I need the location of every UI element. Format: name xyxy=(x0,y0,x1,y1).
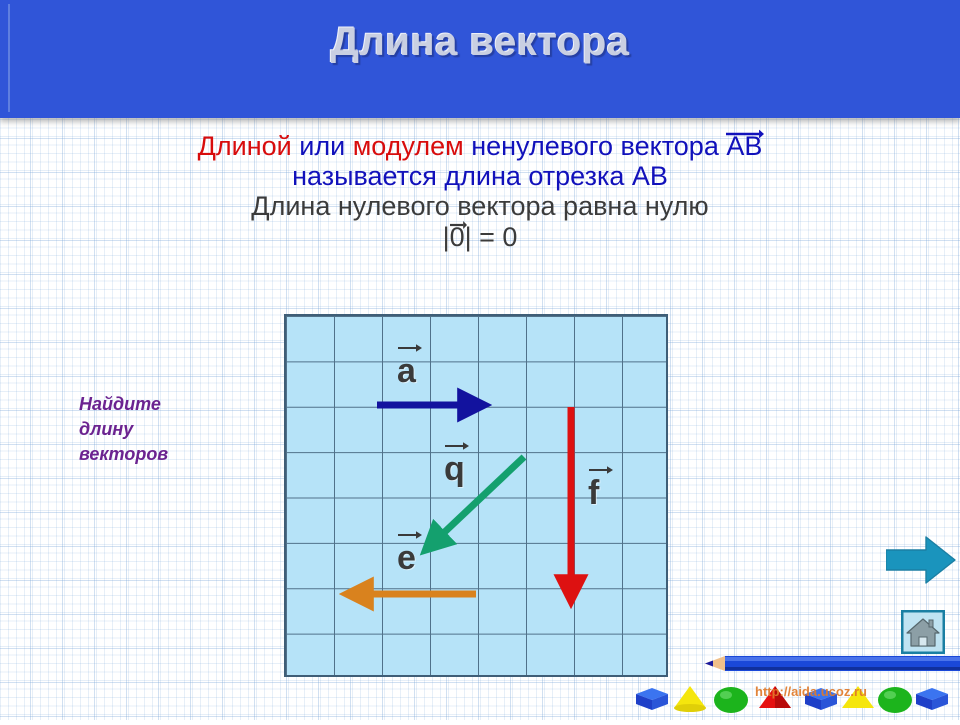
vector-q-label-text: q xyxy=(444,450,465,488)
vector-f-label-text: f xyxy=(588,474,599,512)
definition-line-3: Длина нулевого вектора равна нулю xyxy=(0,193,960,220)
pencil-decoration xyxy=(705,655,960,672)
next-slide-button[interactable] xyxy=(886,536,956,584)
vector-q-label: q xyxy=(444,450,465,489)
definition-line-1: Длиной или модулем ненулевого вектора AB xyxy=(0,133,960,160)
vector-f-arrow-bar-icon xyxy=(589,465,613,474)
vector-a-label: a xyxy=(397,352,416,391)
find-length-prompt: Найдите длину векторов xyxy=(79,392,249,466)
abs-open-bar: | xyxy=(443,222,450,252)
vector-e-label-text: e xyxy=(397,539,416,577)
arrow-right-icon[interactable] xyxy=(886,536,956,584)
prompt-line-2: длину xyxy=(79,417,249,442)
vector-q-arrow-bar-icon xyxy=(445,441,469,450)
vector-ab-notation: AB xyxy=(726,133,762,160)
definition-phrase-nenulevogo-vektora: ненулевого вектора xyxy=(471,131,719,161)
page-title: Длина вектора xyxy=(0,20,960,65)
home-icon[interactable] xyxy=(901,610,945,654)
vector-arrow-bar-icon xyxy=(726,129,764,138)
definition-line-2: называется длина отрезка AB xyxy=(0,163,960,190)
vector-drawing-layer xyxy=(286,316,670,679)
zero-vector-notation: 0 xyxy=(450,224,465,251)
vector-e-label: e xyxy=(397,539,416,578)
zero-vector-arrow-bar-icon xyxy=(450,220,467,229)
home-button[interactable] xyxy=(901,610,945,654)
definition-line-4: |0| = 0 xyxy=(0,224,960,251)
definition-word-ili: или xyxy=(299,131,345,161)
prompt-line-3: векторов xyxy=(79,442,249,467)
vector-grid-panel: a q f e xyxy=(284,314,668,677)
vector-a-arrow-bar-icon xyxy=(398,343,422,352)
definition-word-modulem: модулем xyxy=(353,131,464,161)
prompt-line-1: Найдите xyxy=(79,392,249,417)
pencil-icon xyxy=(705,655,960,672)
vector-f-label: f xyxy=(588,474,599,513)
definition-word-dlinoy: Длиной xyxy=(198,131,292,161)
vector-a-label-text: a xyxy=(397,352,416,390)
vector-e-arrow-bar-icon xyxy=(398,530,422,539)
definition-block: Длиной или модулем ненулевого вектора AB… xyxy=(0,133,960,254)
abs-close-and-equals: | = 0 xyxy=(465,222,518,252)
title-banner: Длина вектора xyxy=(0,0,960,118)
watermark-url: http://aida.ucoz.ru xyxy=(755,684,867,699)
